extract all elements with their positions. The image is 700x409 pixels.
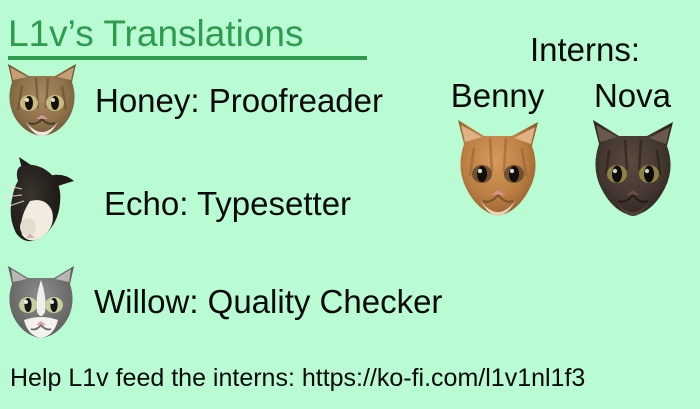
intern-card-nova: Nova bbox=[565, 78, 700, 220]
page-title: L1v’s Translations bbox=[8, 14, 367, 60]
title-underline bbox=[8, 56, 367, 60]
credit-label-willow: Willow: Quality Checker bbox=[94, 284, 442, 320]
translation-credits-card: L1v’s Translations bbox=[0, 0, 700, 409]
cat-face-echo-icon bbox=[0, 155, 82, 253]
cat-face-nova-icon bbox=[585, 116, 681, 220]
intern-name-benny: Benny bbox=[451, 78, 545, 114]
cat-face-benny-icon bbox=[450, 116, 546, 220]
interns-section: Interns: Benny bbox=[430, 32, 700, 220]
credit-label-echo: Echo: Typesetter bbox=[104, 186, 351, 222]
intern-card-benny: Benny bbox=[430, 78, 565, 220]
credit-row-echo: Echo: Typesetter bbox=[0, 155, 351, 253]
interns-heading: Interns: bbox=[470, 32, 700, 68]
intern-name-nova: Nova bbox=[594, 78, 671, 114]
cat-face-willow-icon bbox=[2, 264, 80, 340]
cat-face-honey-icon bbox=[2, 62, 82, 140]
credit-label-honey: Honey: Proofreader bbox=[95, 83, 383, 119]
page-title-text: L1v’s Translations bbox=[8, 14, 367, 54]
credit-row-willow: Willow: Quality Checker bbox=[2, 264, 442, 340]
credit-row-honey: Honey: Proofreader bbox=[2, 62, 383, 140]
support-note: Help L1v feed the interns: https://ko-fi… bbox=[10, 363, 585, 393]
interns-grid: Benny bbox=[430, 78, 700, 220]
